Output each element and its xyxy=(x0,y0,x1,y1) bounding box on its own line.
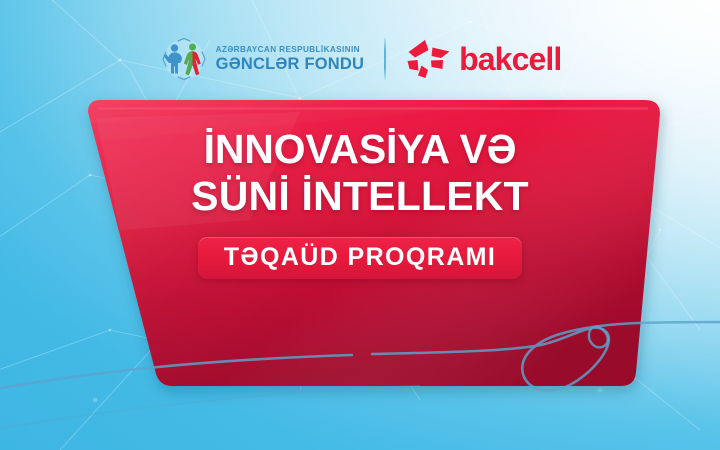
red-banner-shape xyxy=(0,0,720,450)
promo-banner: AZƏRBAYCAN RESPUBLİKASININ GƏNCLƏR FONDU… xyxy=(0,0,720,450)
